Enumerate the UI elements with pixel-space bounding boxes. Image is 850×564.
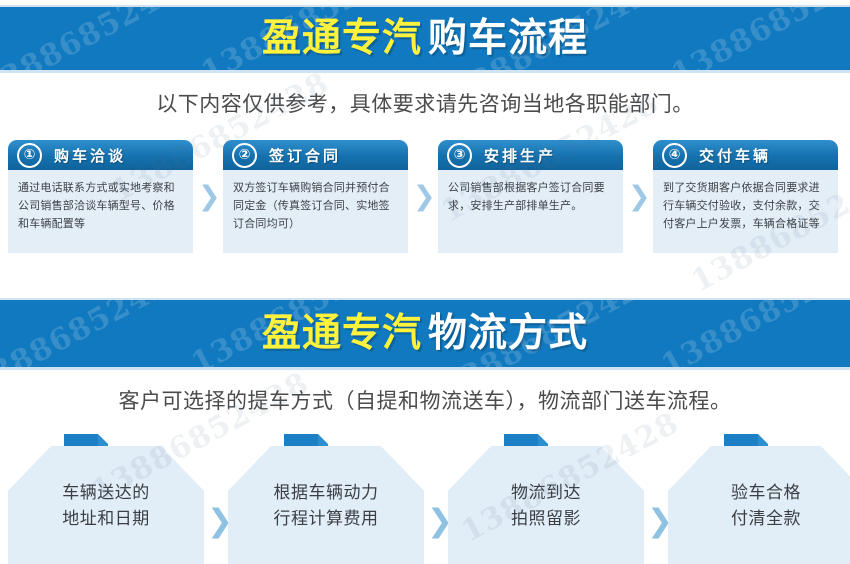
step-title: 购车洽谈 [54,145,126,166]
section2-title-highlight: 盈通专汽 [262,314,422,353]
section1-banner-title-group: 盈通专汽 购车流程 [262,19,588,58]
section2-title-rest: 物流方式 [422,314,588,353]
section2-banner: 13886852428 13886852428 13886852428 1388… [0,298,850,370]
logistics-box-1[interactable]: 车辆送达的 地址和日期 [8,428,204,564]
step-body-text: 双方签订车辆购销合同并预付合同定金（传真签订合同、实地签订合同均可） [223,170,408,253]
logistics-label-line2: 付清全款 [668,506,850,532]
step-card-2-header: ② 签订合同 [223,140,408,170]
step-arrow-3: ❯ [628,184,646,210]
logistics-label-line2: 拍照留影 [448,506,644,532]
section1-title-rest: 购车流程 [422,19,588,58]
step-number-badge: ③ [447,143,472,168]
section1-banner: 13886852428 13886852428 13886852428 1388… [0,5,850,73]
logistics-arrow-3: ❯ [647,506,667,536]
step-title: 安排生产 [484,145,556,166]
step-card-1[interactable]: ① 购车洽谈 通过电话联系方式或实地考察和公司销售部洽谈车辆型号、价格和车辆配置… [8,140,193,253]
logistics-box-4-label: 验车合格 付清全款 [668,480,850,533]
step-card-3-header: ③ 安排生产 [438,140,623,170]
step-title: 交付车辆 [699,145,771,166]
section2-banner-title-group: 盈通专汽 物流方式 [262,314,588,353]
step-arrow-2: ❯ [413,184,431,210]
logistics-label-line2: 地址和日期 [8,506,204,532]
section2-subtitle: 客户可选择的提车方式（自提和物流送车），物流部门送车流程。 [0,385,850,415]
logistics-label-line1: 根据车辆动力 [228,480,424,506]
logistics-box-4[interactable]: 验车合格 付清全款 [668,428,850,564]
purchase-steps-row: ① 购车洽谈 通过电话联系方式或实地考察和公司销售部洽谈车辆型号、价格和车辆配置… [0,140,850,265]
section1-subtitle: 以下内容仅供参考，具体要求请先咨询当地各职能部门。 [0,88,850,118]
logistics-label-line1: 物流到达 [448,480,644,506]
step-card-4-header: ④ 交付车辆 [653,140,838,170]
step-number-badge: ② [232,143,257,168]
page-root: 13886852428 13886852428 13886852428 1388… [0,0,850,564]
step-number-badge: ④ [662,143,687,168]
step-body-text: 到了交货期客户依据合同要求进行车辆交付验收，支付余款，交付客户上户发票，车辆合格… [653,170,838,253]
section1-title-highlight: 盈通专汽 [262,19,422,58]
step-number-badge: ① [17,143,42,168]
step-body-text: 通过电话联系方式或实地考察和公司销售部洽谈车辆型号、价格和车辆配置等 [8,170,193,253]
logistics-box-2-label: 根据车辆动力 行程计算费用 [228,480,424,533]
watermark-text: 13886852428 [666,7,850,70]
logistics-box-1-label: 车辆送达的 地址和日期 [8,480,204,533]
logistics-label-line1: 验车合格 [668,480,850,506]
step-title: 签订合同 [269,145,341,166]
step-arrow-1: ❯ [198,184,216,210]
logistics-label-line2: 行程计算费用 [228,506,424,532]
logistics-box-3-label: 物流到达 拍照留影 [448,480,644,533]
step-card-2[interactable]: ② 签订合同 双方签订车辆购销合同并预付合同定金（传真签订合同、实地签订合同均可… [223,140,408,253]
watermark-text: 13886852428 [656,300,850,367]
watermark-text: 13886852428 [0,7,205,70]
step-card-1-header: ① 购车洽谈 [8,140,193,170]
logistics-label-line1: 车辆送达的 [8,480,204,506]
step-card-3[interactable]: ③ 安排生产 公司销售部根据客户签订合同要求，安排生产部排单生产。 [438,140,623,253]
logistics-arrow-2: ❯ [427,506,447,536]
step-body-text: 公司销售部根据客户签订合同要求，安排生产部排单生产。 [438,170,623,253]
logistics-arrow-1: ❯ [207,506,227,536]
watermark-text: 13886852428 [0,300,195,367]
logistics-box-2[interactable]: 根据车辆动力 行程计算费用 [228,428,424,564]
logistics-steps-row: 车辆送达的 地址和日期 ❯ 根据车辆动力 行程计算费用 ❯ [0,428,850,564]
step-card-4[interactable]: ④ 交付车辆 到了交货期客户依据合同要求进行车辆交付验收，支付余款，交付客户上户… [653,140,838,253]
logistics-box-3[interactable]: 物流到达 拍照留影 [448,428,644,564]
